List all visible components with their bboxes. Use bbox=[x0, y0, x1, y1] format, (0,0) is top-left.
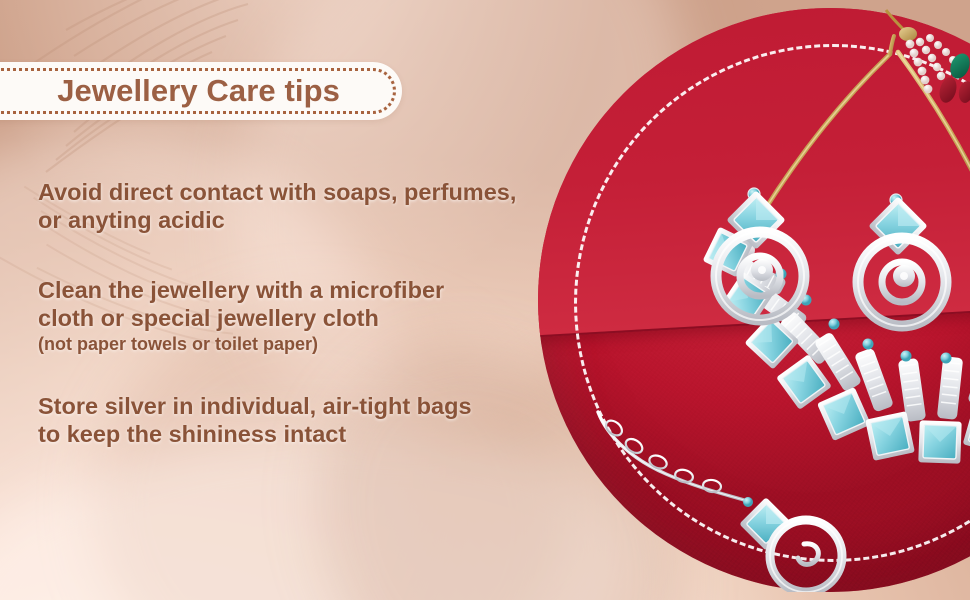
tip-line: cloth or special jewellery cloth bbox=[38, 304, 568, 332]
ruby-bead bbox=[957, 80, 970, 104]
banner-canvas: Jewellery Care tips Avoid direct contact… bbox=[0, 0, 970, 600]
care-tips-list: Avoid direct contact with soaps, perfume… bbox=[38, 178, 568, 474]
tip-line: or anyting acidic bbox=[38, 206, 568, 234]
tip-subtext: (not paper towels or toilet paper) bbox=[38, 332, 568, 356]
maang-tikka-pendant bbox=[598, 412, 842, 592]
bead-tassel bbox=[878, 4, 970, 116]
tip-line: to keep the shininess intact bbox=[38, 420, 568, 448]
page-title-pill: Jewellery Care tips bbox=[0, 62, 402, 120]
care-tip-item: Avoid direct contact with soaps, perfume… bbox=[38, 178, 568, 234]
page-title: Jewellery Care tips bbox=[57, 73, 402, 109]
care-tip-item: Store silver in individual, air-tight ba… bbox=[38, 392, 568, 448]
care-tip-item: Clean the jewellery with a microfiber cl… bbox=[38, 276, 568, 356]
tip-line: Store silver in individual, air-tight ba… bbox=[38, 392, 568, 420]
earring-right bbox=[858, 194, 946, 326]
tip-line: Clean the jewellery with a microfiber bbox=[38, 276, 568, 304]
emerald-bead bbox=[947, 51, 970, 82]
tip-line: Avoid direct contact with soaps, perfume… bbox=[38, 178, 568, 206]
